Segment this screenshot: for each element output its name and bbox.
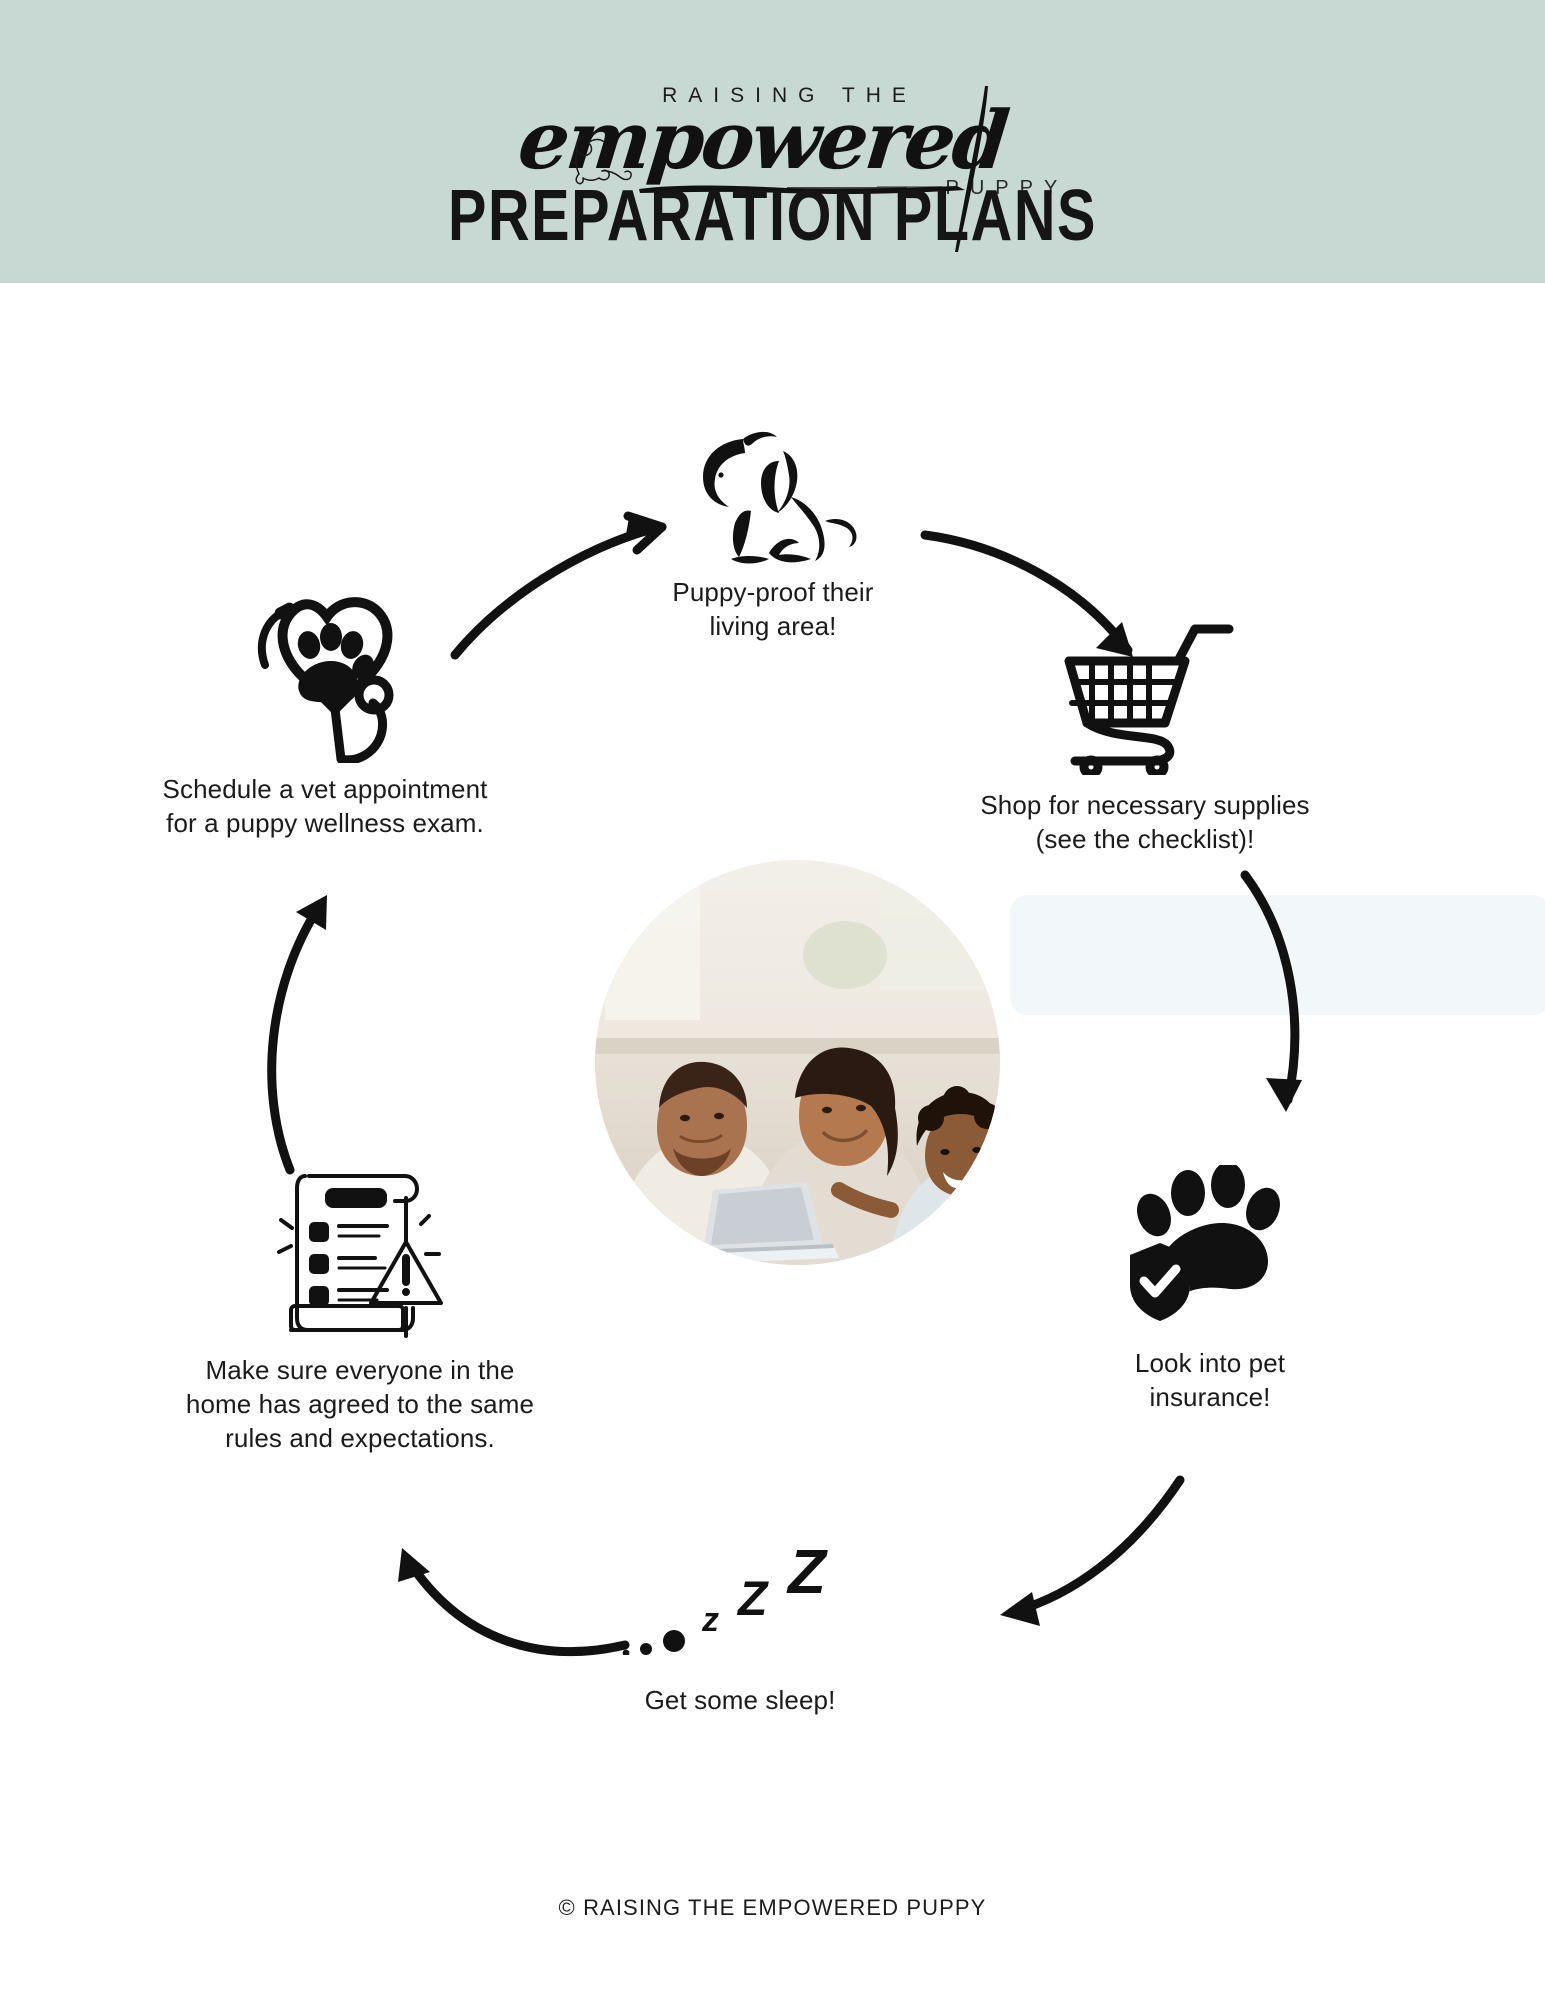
logo-script-word: empowered (0, 100, 1539, 180)
svg-text:Z: Z (786, 1545, 828, 1607)
sitting-dog-icon (588, 440, 958, 560)
decorative-panel (1010, 895, 1545, 1015)
step-label: Make sure everyone in the home has agree… (145, 1354, 575, 1455)
footer-copyright: © RAISING THE EMPOWERED PUPPY (0, 1895, 1545, 1921)
step-shop-supplies: Shop for necessary supplies (see the che… (930, 615, 1360, 857)
step-label: Shop for necessary supplies (see the che… (930, 789, 1360, 857)
paw-shield-check-icon (1040, 1165, 1380, 1325)
step-pet-insurance: Look into pet insurance! (1040, 1165, 1380, 1415)
step-label: Look into pet insurance! (1040, 1347, 1380, 1415)
curved-arrow-rules-to-vet (272, 895, 327, 1170)
checklist-warning-icon (145, 1155, 575, 1340)
family-with-laptop-photo (595, 860, 1000, 1265)
brand-logo: RAISING THE empowered PUPPY (0, 34, 1545, 169)
page-title: PREPARATION PLANS (155, 180, 1391, 252)
step-label: Get some sleep! (530, 1684, 950, 1718)
step-household-rules: Make sure everyone in the home has agree… (145, 1155, 575, 1455)
shopping-cart-icon (930, 615, 1360, 775)
step-label: Puppy-proof their living area! (588, 576, 958, 644)
header-band: RAISING THE empowered PUPPY (0, 0, 1545, 283)
svg-text:Z: Z (736, 1573, 769, 1626)
curved-arrow-insurance-to-sleep (1000, 1480, 1180, 1626)
sleep-zzz-icon: Z Z z (530, 1530, 950, 1670)
step-label: Schedule a vet appointment for a puppy w… (110, 773, 540, 841)
heart-stethoscope-paw-icon (110, 580, 540, 765)
svg-text:z: z (701, 1601, 719, 1639)
step-vet-appointment: Schedule a vet appointment for a puppy w… (110, 580, 540, 841)
step-puppy-proof: Puppy-proof their living area! (588, 440, 958, 644)
step-get-sleep: Z Z z Get some sleep! (530, 1530, 950, 1718)
